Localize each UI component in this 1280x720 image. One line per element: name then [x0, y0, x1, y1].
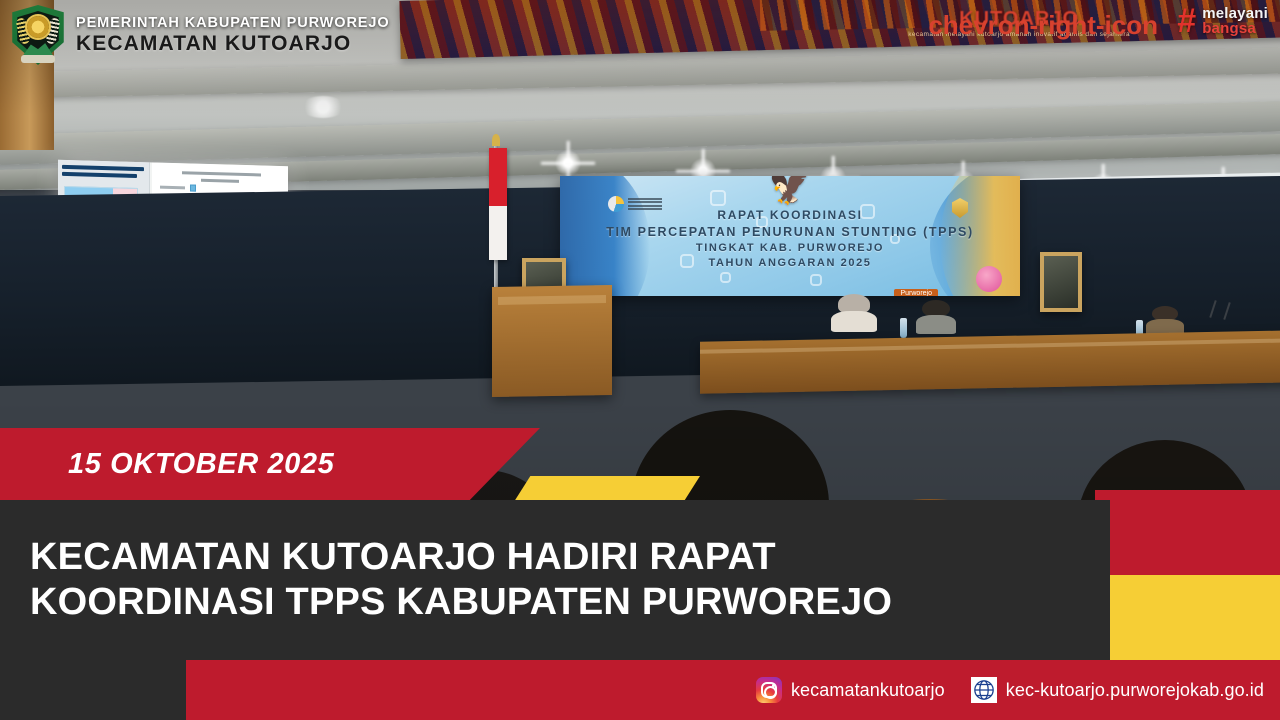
instagram-icon[interactable] — [756, 677, 782, 703]
banner-line-1: RAPAT KOORDINASI — [560, 208, 1020, 222]
globe-icon[interactable] — [971, 677, 997, 703]
banner-line-4: TAHUN ANGGARAN 2025 — [560, 257, 1020, 269]
header-line-1: PEMERINTAH KABUPATEN PURWOREJO — [76, 15, 390, 31]
header-line-2: KECAMATAN KUTOARJO — [76, 32, 390, 56]
title-banner: KECAMATAN KUTOARJO HADIRI RAPAT KOORDINA… — [0, 500, 1110, 660]
garuda-emblem-icon: 🦅 — [769, 176, 811, 204]
brand-word-2: bangsa — [1202, 21, 1268, 36]
brand-word-1: melayani — [1202, 6, 1268, 21]
date-text: 15 OKTOBER 2025 — [0, 448, 334, 481]
side-accent-red — [1095, 490, 1280, 575]
bottom-bar-left-pad — [0, 660, 186, 720]
instagram-contact[interactable]: kecamatankutoarjo — [756, 677, 945, 703]
purworejo-regency-emblem-icon — [10, 5, 66, 65]
banner-child-illustration — [976, 266, 1002, 292]
banner-corner-tag: Purworejo — [894, 289, 938, 296]
banner-line-3: TINGKAT KAB. PURWOREJO — [560, 242, 1020, 254]
title-line-1: KECAMATAN KUTOARJO HADIRI RAPAT — [30, 535, 1110, 580]
title-line-2: KOORDINASI TPPS KABUPATEN PURWOREJO — [30, 580, 1110, 625]
hash-icon: # — [1177, 7, 1196, 36]
contact-bar: kecamatankutoarjo kec-kutoarjo.purworejo… — [186, 660, 1280, 720]
poster-header: PEMERINTAH KABUPATEN PURWOREJO KECAMATAN… — [0, 0, 470, 70]
banner-text-block: RAPAT KOORDINASI TIM PERCEPATAN PENURUNA… — [560, 208, 1020, 269]
slideshow-poster: 🦅 RAPAT KOORDINASI TIM PERCEPATAN PENURU… — [0, 0, 1280, 720]
header-text: PEMERINTAH KABUPATEN PURWOREJO KECAMATAN… — [76, 15, 390, 56]
brand-words: melayani bangsa — [1202, 6, 1268, 36]
website-contact[interactable]: kec-kutoarjo.purworejokab.go.id — [971, 677, 1264, 703]
chevron-right-icon: chevron-right-icon — [928, 10, 1158, 41]
melayani-bangsa-lockup: # melayani bangsa — [1177, 6, 1268, 36]
date-banner: 15 OKTOBER 2025 — [0, 428, 540, 500]
side-accent-yellow — [1095, 575, 1280, 660]
instagram-handle: kecamatankutoarjo — [791, 680, 945, 701]
banner-line-2: TIM PERCEPATAN PENURUNAN STUNTING (TPPS) — [560, 225, 1020, 239]
website-url: kec-kutoarjo.purworejokab.go.id — [1006, 680, 1264, 701]
